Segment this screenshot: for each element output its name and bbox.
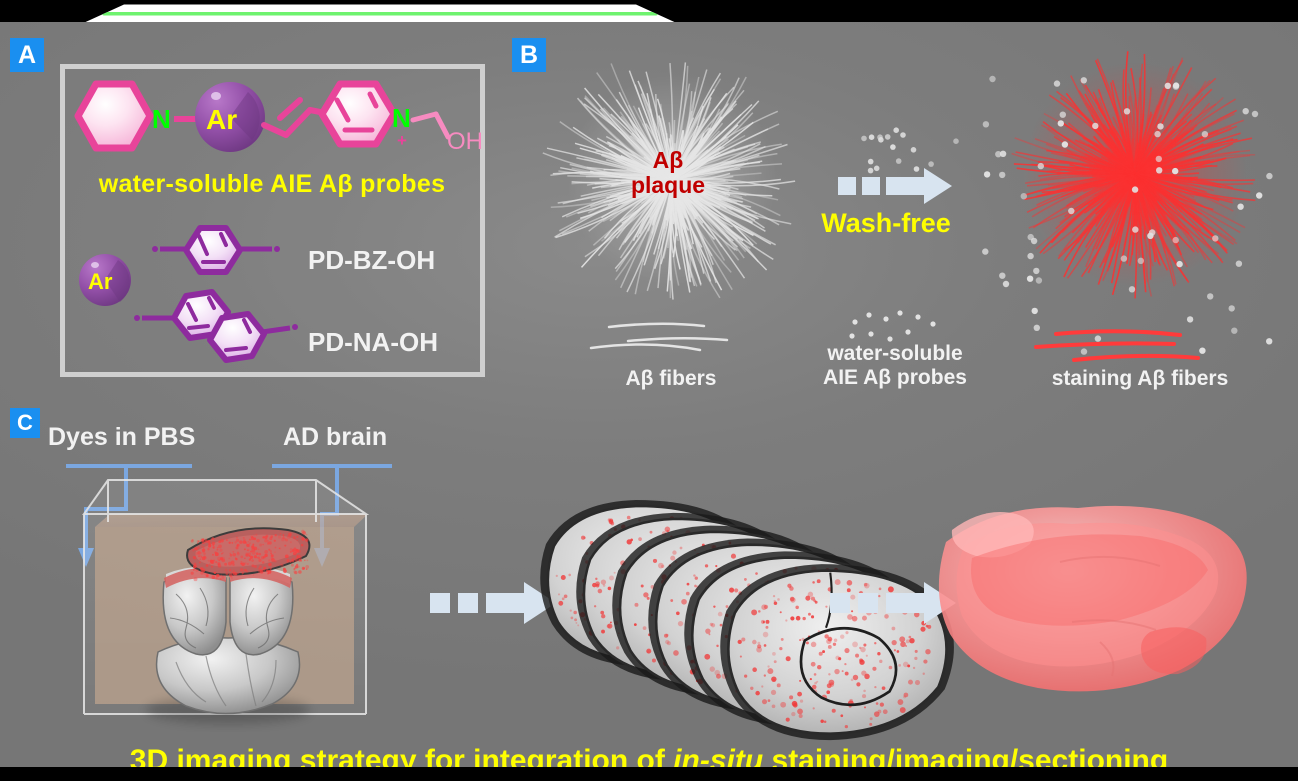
brain-slice-stack-icon xyxy=(540,500,954,740)
wash-free-label: Wash-free xyxy=(796,208,976,239)
panel-c-badge: C xyxy=(10,408,40,438)
legend-probes-line2: AIE Aβ probes xyxy=(823,366,967,389)
top-decorative-strip xyxy=(60,3,700,22)
legend-probes-line1: water-soluble xyxy=(827,342,962,365)
plaque-label-line1: Aβ xyxy=(653,147,684,173)
legend-probe-dots-icon xyxy=(849,310,935,341)
beaker-icon xyxy=(84,480,368,714)
probe-dots-icon xyxy=(861,127,959,173)
wash-free-arrow-icon xyxy=(838,168,952,204)
stained-plaque-icon xyxy=(982,51,1273,355)
brain-3d-reconstruction-icon xyxy=(939,506,1247,692)
panel-a-badge: A xyxy=(10,38,44,72)
plaque-label-line2: plaque xyxy=(631,172,705,198)
legend-label-stained-fibers: staining Aβ fibers xyxy=(1030,367,1250,391)
dashed-arrow-icon-2 xyxy=(830,582,956,624)
label-dyes-in-pbs: Dyes in PBS xyxy=(48,423,195,452)
brain-icon-in-bath xyxy=(146,528,310,724)
figure-canvas: A xyxy=(0,22,1298,767)
panel-a-probe-caption: water-soluble AIE Aβ probes xyxy=(62,170,482,199)
legend-unstained-fibers-icon xyxy=(591,324,727,350)
pointer-ad-brain xyxy=(272,466,392,567)
bottom-black-bar xyxy=(0,767,1298,781)
dashed-arrow-icon-1 xyxy=(430,582,556,624)
pointer-dyes-in-pbs xyxy=(66,466,192,567)
compound-label-pd-na-oh: PD-NA-OH xyxy=(308,327,438,358)
plaque-label: Aβ plaque xyxy=(608,148,728,198)
legend-stained-fibers-icon xyxy=(1036,331,1198,360)
panel-b-badge: B xyxy=(512,38,546,72)
legend-label-probes: water-soluble AIE Aβ probes xyxy=(800,342,990,390)
graphical-abstract-figure: A xyxy=(0,0,1298,781)
compound-label-pd-bz-oh: PD-BZ-OH xyxy=(308,245,435,276)
label-ad-brain: AD brain xyxy=(283,423,387,452)
legend-label-fibers: Aβ fibers xyxy=(596,367,746,391)
